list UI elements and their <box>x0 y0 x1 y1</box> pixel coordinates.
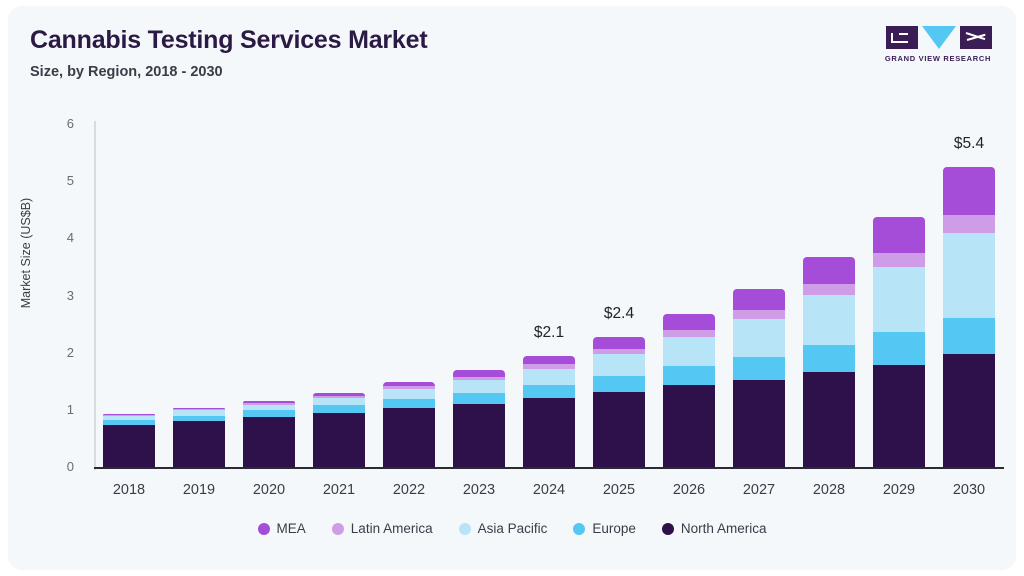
bar-segment[interactable] <box>103 416 155 420</box>
legend-label: Asia Pacific <box>478 521 548 536</box>
bar-segment[interactable] <box>383 399 435 408</box>
bar-segment[interactable] <box>803 257 855 284</box>
table-row[interactable] <box>173 106 225 467</box>
stacked-bar-chart: Market Size (US$B) 0123456 2018201920202… <box>8 6 1016 570</box>
bar-segment[interactable] <box>383 386 435 389</box>
bar-segment[interactable] <box>943 354 995 467</box>
bar-segment[interactable] <box>453 404 505 467</box>
bar-segment[interactable] <box>523 385 575 398</box>
table-row[interactable] <box>873 106 925 467</box>
table-row[interactable] <box>453 106 505 467</box>
bar-segment[interactable] <box>733 357 785 380</box>
bar-segment[interactable] <box>803 284 855 295</box>
bar-segment[interactable] <box>873 332 925 365</box>
bar-segment[interactable] <box>173 421 225 467</box>
bar-segment[interactable] <box>313 396 365 398</box>
bar-segment[interactable] <box>523 364 575 369</box>
bar-segment[interactable] <box>523 369 575 386</box>
bar-segment[interactable] <box>313 398 365 405</box>
table-row[interactable] <box>733 106 785 467</box>
bar-value-label: $5.4 <box>924 135 1014 153</box>
bar-value-label: $2.4 <box>574 305 664 323</box>
bar-segment[interactable] <box>593 354 645 376</box>
x-axis-line <box>94 467 1004 469</box>
y-axis-tick: 6 <box>52 116 74 131</box>
bar-segment[interactable] <box>663 314 715 329</box>
table-row[interactable] <box>103 106 155 467</box>
bar-segment[interactable] <box>383 408 435 467</box>
bar-segment[interactable] <box>383 389 435 399</box>
bar-segment[interactable] <box>733 310 785 319</box>
bar-segment[interactable] <box>943 318 995 355</box>
bar-segment[interactable] <box>663 337 715 366</box>
bar-segment[interactable] <box>593 337 645 348</box>
y-axis-label: Market Size (US$B) <box>19 173 33 333</box>
bar-segment[interactable] <box>173 408 225 410</box>
table-row[interactable] <box>593 106 645 467</box>
legend-item[interactable]: Latin America <box>332 521 433 536</box>
table-row[interactable] <box>803 106 855 467</box>
bar-segment[interactable] <box>453 370 505 376</box>
bar-segment[interactable] <box>803 372 855 467</box>
bar-segment[interactable] <box>103 414 155 415</box>
legend-color-swatch <box>573 523 585 535</box>
bar-segment[interactable] <box>173 416 225 422</box>
bar-segment[interactable] <box>453 393 505 404</box>
table-row[interactable] <box>313 106 365 467</box>
legend-label: MEA <box>277 521 306 536</box>
bar-segment[interactable] <box>243 417 295 467</box>
bar-segment[interactable] <box>733 380 785 467</box>
bar-segment[interactable] <box>103 425 155 467</box>
bar-segment[interactable] <box>313 405 365 412</box>
bar-segment[interactable] <box>243 401 295 403</box>
table-row[interactable] <box>663 106 715 467</box>
bar-segment[interactable] <box>453 377 505 380</box>
bar-segment[interactable] <box>943 215 995 232</box>
bar-segment[interactable] <box>873 365 925 467</box>
legend-color-swatch <box>258 523 270 535</box>
y-axis-tick: 5 <box>52 173 74 188</box>
bar-value-label: $2.1 <box>504 324 594 342</box>
table-row[interactable] <box>383 106 435 467</box>
bar-segment[interactable] <box>663 385 715 467</box>
bar-segment[interactable] <box>523 398 575 467</box>
bar-segment[interactable] <box>313 393 365 396</box>
bar-segment[interactable] <box>103 415 155 416</box>
bar-segment[interactable] <box>313 413 365 467</box>
bar-segment[interactable] <box>173 410 225 415</box>
bar-segment[interactable] <box>243 405 295 411</box>
bar-segment[interactable] <box>873 217 925 252</box>
x-axis-tick: 2030 <box>924 482 1014 498</box>
bar-segment[interactable] <box>873 253 925 267</box>
bar-segment[interactable] <box>803 295 855 345</box>
y-axis-tick: 3 <box>52 288 74 303</box>
bar-segment[interactable] <box>453 380 505 393</box>
legend-color-swatch <box>662 523 674 535</box>
legend-item[interactable]: North America <box>662 521 767 536</box>
table-row[interactable] <box>523 106 575 467</box>
bar-segment[interactable] <box>243 410 295 416</box>
bar-segment[interactable] <box>593 392 645 467</box>
bar-segment[interactable] <box>943 233 995 318</box>
legend-item[interactable]: Asia Pacific <box>459 521 548 536</box>
bar-segment[interactable] <box>593 349 645 355</box>
table-row[interactable] <box>243 106 295 467</box>
legend-item[interactable]: MEA <box>258 521 306 536</box>
legend-label: Europe <box>592 521 636 536</box>
y-axis-tick: 0 <box>52 459 74 474</box>
bar-segment[interactable] <box>733 319 785 357</box>
bar-segment[interactable] <box>243 403 295 405</box>
bar-segment[interactable] <box>383 382 435 387</box>
bar-segment[interactable] <box>663 330 715 337</box>
legend-color-swatch <box>332 523 344 535</box>
legend-label: Latin America <box>351 521 433 536</box>
bar-segment[interactable] <box>943 167 995 215</box>
legend-color-swatch <box>459 523 471 535</box>
bar-segment[interactable] <box>523 356 575 365</box>
table-row[interactable] <box>943 106 995 467</box>
y-axis-tick: 2 <box>52 345 74 360</box>
bar-segment[interactable] <box>173 409 225 410</box>
legend-item[interactable]: Europe <box>573 521 636 536</box>
bar-segment[interactable] <box>103 420 155 425</box>
legend-label: North America <box>681 521 767 536</box>
bar-segment[interactable] <box>733 289 785 310</box>
y-axis-tick: 4 <box>52 230 74 245</box>
bar-segment[interactable] <box>663 366 715 385</box>
y-axis-tick: 1 <box>52 402 74 417</box>
chart-legend: MEALatin AmericaAsia PacificEuropeNorth … <box>8 521 1016 536</box>
bar-segment[interactable] <box>593 376 645 392</box>
bar-segment[interactable] <box>803 345 855 372</box>
chart-card: Cannabis Testing Services Market Size, b… <box>8 6 1016 570</box>
bars-area <box>94 106 1004 467</box>
bar-segment[interactable] <box>873 267 925 332</box>
